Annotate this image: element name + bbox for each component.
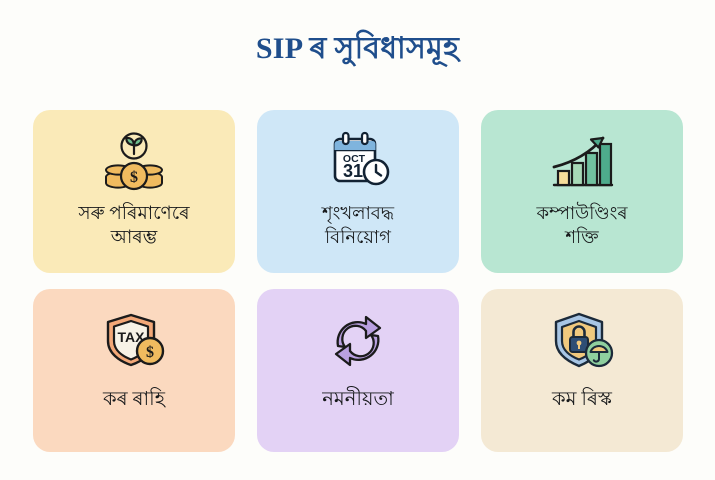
benefit-card-label: শৃংখলাবদ্ধ বিনিয়োগ (312, 202, 404, 250)
benefit-card-tax-saving[interactable]: TAX $ কৰ ৰাহি (33, 289, 235, 452)
benefit-card-disciplined-investment[interactable]: OCT 31 শৃংখলাবদ্ধ বিনিয়োগ (257, 110, 459, 273)
benefit-card-flexibility[interactable]: নমনীয়তা (257, 289, 459, 452)
benefits-grid: $ সৰু পৰিমাণেৰে আৰম্ভ OCT 31 (33, 110, 683, 452)
coins-with-sprout-icon: $ (98, 126, 170, 198)
benefit-card-label: কৰ ৰাহি (93, 387, 175, 413)
calendar-clock-icon: OCT 31 (322, 126, 394, 198)
shield-lock-umbrella-icon (546, 305, 618, 377)
calendar-day-label: 31 (343, 161, 363, 181)
benefit-card-low-risk[interactable]: কম ৰিস্ক (481, 289, 683, 452)
benefit-card-label: কম্পাউণ্ডিংৰ শক্তি (527, 202, 638, 250)
cycle-arrows-icon (322, 305, 394, 377)
infographic-page: SIP ৰ সুবিধাসমূহ (0, 0, 715, 480)
benefit-card-label: নমনীয়তা (312, 387, 403, 413)
benefit-card-small-amount-start[interactable]: $ সৰু পৰিমাণেৰে আৰম্ভ (33, 110, 235, 273)
svg-text:$: $ (130, 169, 138, 186)
benefit-card-label: কম ৰিস্ক (542, 387, 622, 413)
page-title: SIP ৰ সুবিধাসমূহ (0, 0, 715, 65)
growth-bar-chart-icon (546, 126, 618, 198)
tax-shield-coin-icon: TAX $ (98, 305, 170, 377)
svg-text:$: $ (146, 344, 154, 361)
benefit-card-label: সৰু পৰিমাণেৰে আৰম্ভ (68, 202, 199, 251)
benefit-card-power-of-compounding[interactable]: কম্পাউণ্ডিংৰ শক্তি (481, 110, 683, 273)
